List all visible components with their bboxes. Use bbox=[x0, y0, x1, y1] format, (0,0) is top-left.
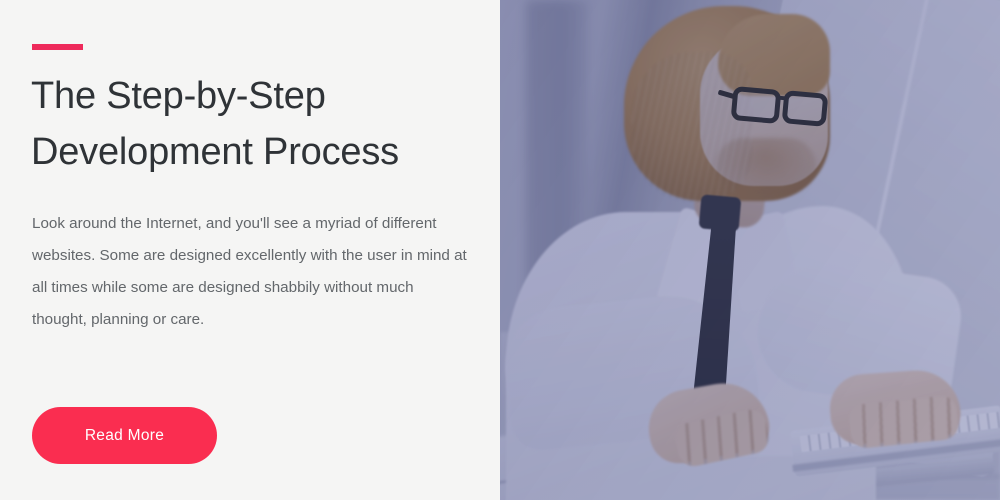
hero-photo bbox=[500, 0, 1000, 500]
hero-section: The Step-by-Step Development Process Loo… bbox=[0, 0, 1000, 500]
photo-tint-layer bbox=[500, 0, 1000, 500]
accent-bar bbox=[32, 44, 83, 50]
content-panel: The Step-by-Step Development Process Loo… bbox=[0, 0, 500, 500]
body-paragraph: Look around the Internet, and you'll see… bbox=[32, 208, 472, 336]
page-title: The Step-by-Step Development Process bbox=[31, 68, 481, 180]
hero-image-panel bbox=[500, 0, 1000, 500]
read-more-button[interactable]: Read More bbox=[32, 407, 217, 464]
